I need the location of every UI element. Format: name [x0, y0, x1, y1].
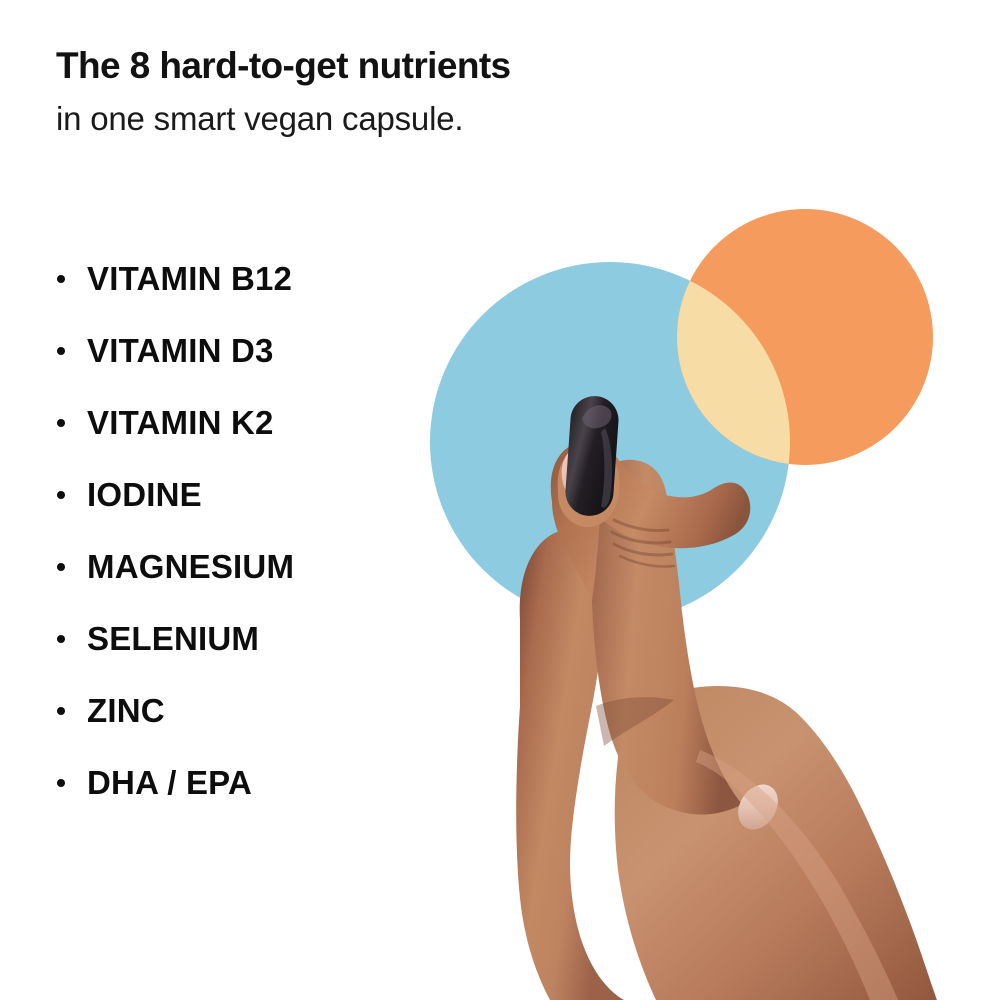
nutrient-label: VITAMIN B12	[87, 260, 292, 297]
vegan-capsule	[564, 394, 620, 517]
page-title: The 8 hard-to-get nutrients	[56, 44, 716, 88]
bullet-dot-icon	[57, 347, 65, 355]
nutrient-label: DHA / EPA	[87, 764, 252, 801]
product-artwork	[400, 150, 1000, 1000]
nutrient-label: VITAMIN D3	[87, 332, 274, 369]
headline-block: The 8 hard-to-get nutrients in one smart…	[56, 44, 716, 139]
hand	[516, 439, 948, 1000]
bullet-dot-icon	[57, 779, 65, 787]
bullet-dot-icon	[57, 635, 65, 643]
bullet-dot-icon	[57, 491, 65, 499]
bullet-dot-icon	[57, 707, 65, 715]
nutrient-label: SELENIUM	[87, 620, 259, 657]
infographic-canvas: The 8 hard-to-get nutrients in one smart…	[0, 0, 1000, 1000]
page-subtitle: in one smart vegan capsule.	[56, 98, 716, 139]
bullet-dot-icon	[57, 563, 65, 571]
bullet-dot-icon	[57, 419, 65, 427]
nutrient-label: IODINE	[87, 476, 202, 513]
nutrient-label: ZINC	[87, 692, 165, 729]
nutrient-label: MAGNESIUM	[87, 548, 294, 585]
bullet-dot-icon	[57, 275, 65, 283]
nutrient-label: VITAMIN K2	[87, 404, 274, 441]
